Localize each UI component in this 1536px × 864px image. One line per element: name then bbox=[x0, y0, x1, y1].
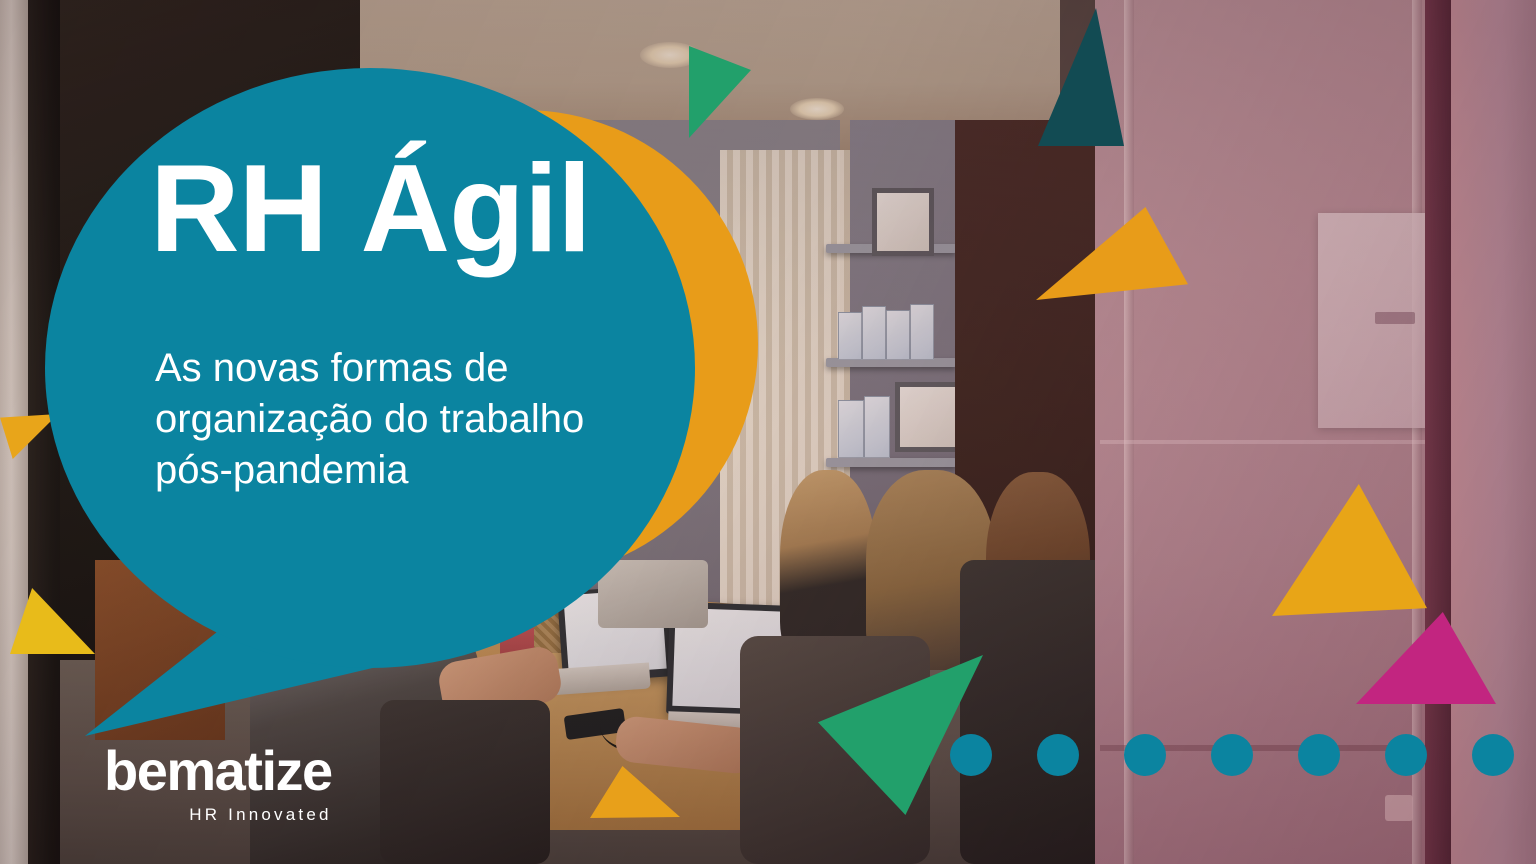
dot-5 bbox=[1298, 734, 1340, 776]
logo-tagline: HR Innovated bbox=[104, 805, 332, 825]
dot-1 bbox=[950, 734, 992, 776]
dot-3 bbox=[1124, 734, 1166, 776]
green-triangle-top-icon bbox=[689, 46, 751, 138]
subtitle-line-2: organização do trabalho bbox=[155, 394, 675, 445]
dot-6 bbox=[1385, 734, 1427, 776]
brand-logo[interactable]: bematize HR Innovated bbox=[104, 743, 332, 825]
page-subtitle: As novas formas de organização do trabal… bbox=[155, 343, 675, 497]
banner-canvas: RH Ágil As novas formas de organização d… bbox=[0, 0, 1536, 864]
subtitle-line-1: As novas formas de bbox=[155, 343, 675, 394]
subtitle-line-3: pós-pandemia bbox=[155, 445, 675, 496]
page-title: RH Ágil bbox=[150, 147, 591, 271]
dot-4 bbox=[1211, 734, 1253, 776]
teal-dark-triangle-icon bbox=[1038, 8, 1124, 146]
dot-2 bbox=[1037, 734, 1079, 776]
dot-7 bbox=[1472, 734, 1514, 776]
logo-wordmark: bematize bbox=[104, 743, 332, 799]
